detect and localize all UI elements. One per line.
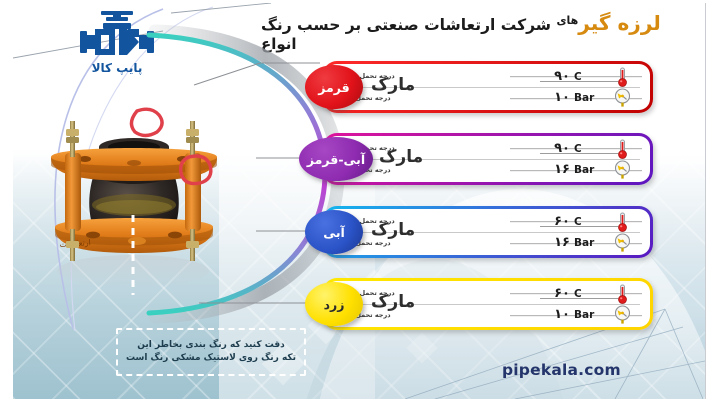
product-image-expansion-joint: ارتعاشات — [25, 95, 240, 295]
spec-row-red: درجه تحمل حرارت درجه تحمل فشار قرمز مارک… — [323, 61, 653, 113]
value-pressure-unit: Bar — [574, 164, 594, 176]
mark-badge-label: آبی-قرمز — [307, 152, 365, 167]
mark-badge-blue[interactable]: آبی — [305, 210, 363, 254]
pressure-gauge-icon — [612, 160, 632, 180]
mark-word-red: مارک — [371, 75, 415, 95]
value-pressure-unit: Bar — [574, 309, 594, 321]
mark-word-purple: مارک — [379, 147, 423, 167]
value-temperature: ۶۰ C — [540, 283, 632, 304]
mark-badge-label: زرد — [324, 297, 345, 312]
value-rule — [540, 153, 618, 154]
value-rule — [540, 81, 618, 82]
spec-row-yellow: درجه تحمل حرارت درجه تحمل فشار زرد مارک … — [323, 278, 653, 330]
thermometer-icon — [612, 67, 632, 87]
value-rule — [540, 226, 618, 227]
value-pressure-number: ۱۰ — [540, 307, 570, 322]
mark-badge-label: آبی — [323, 225, 345, 240]
value-pressure-unit: Bar — [574, 92, 594, 104]
mark-word-yellow: مارک — [371, 292, 415, 312]
thermometer-icon — [612, 284, 632, 304]
note-line-1: دقت کنید که رنگ بندی بخاطر این — [137, 340, 284, 350]
mark-word-blue: مارک — [371, 220, 415, 240]
spec-row-blue: درجه تحمل حرارت درجه تحمل فشار آبی مارک … — [323, 206, 653, 258]
note-line-2: تکه رنگ روی لاستیک مشکی رنگ است — [126, 353, 296, 363]
value-pressure-unit: Bar — [574, 237, 594, 249]
value-pressure-number: ۱۶ — [540, 162, 570, 177]
annotation-circle-top — [131, 109, 162, 135]
title-highlight: لرزه گیر — [578, 11, 660, 35]
pressure-gauge-icon — [612, 305, 632, 325]
spec-values-purple: ۹۰ C ۱۶ Bar — [540, 133, 632, 185]
pressure-gauge-icon — [612, 88, 632, 108]
spec-values-red: ۹۰ C ۱۰ Bar — [540, 61, 632, 113]
thermometer-icon — [612, 139, 632, 159]
value-temperature: ۹۰ C — [540, 138, 632, 159]
mark-badge-purple[interactable]: آبی-قرمز — [299, 137, 373, 181]
note-box: دقت کنید که رنگ بندی بخاطر این تکه رنگ ر… — [116, 328, 306, 376]
value-temperature: ۹۰ C — [540, 66, 632, 87]
spec-values-blue: ۶۰ C ۱۶ Bar — [540, 206, 632, 258]
mark-badge-red[interactable]: قرمز — [305, 65, 363, 109]
value-pressure: ۱۰ Bar — [540, 87, 632, 108]
mark-badge-yellow[interactable]: زرد — [305, 282, 363, 326]
value-rule — [540, 298, 618, 299]
pressure-gauge-icon — [612, 233, 632, 253]
thermometer-icon — [612, 212, 632, 232]
title-suffix-sup: های — [556, 14, 578, 27]
mark-badge-label: قرمز — [318, 80, 349, 95]
spec-row-purple: درجه تحمل حرارت درجه تحمل فشار آبی-قرمز … — [323, 133, 653, 185]
value-temperature: ۶۰ C — [540, 211, 632, 232]
infographic-frame: پایپ کالا لرزه گیرهای شرکت ارتعاشات صنعت… — [0, 0, 719, 405]
spec-values-yellow: ۶۰ C ۱۰ Bar — [540, 278, 632, 330]
value-pressure: ۱۰ Bar — [540, 304, 632, 325]
value-pressure-number: ۱۰ — [540, 90, 570, 105]
value-pressure-number: ۱۶ — [540, 235, 570, 250]
website-url[interactable]: pipekala.com — [502, 361, 621, 379]
infographic-canvas: پایپ کالا لرزه گیرهای شرکت ارتعاشات صنعت… — [13, 3, 706, 399]
value-pressure: ۱۶ Bar — [540, 159, 632, 180]
value-pressure: ۱۶ Bar — [540, 232, 632, 253]
